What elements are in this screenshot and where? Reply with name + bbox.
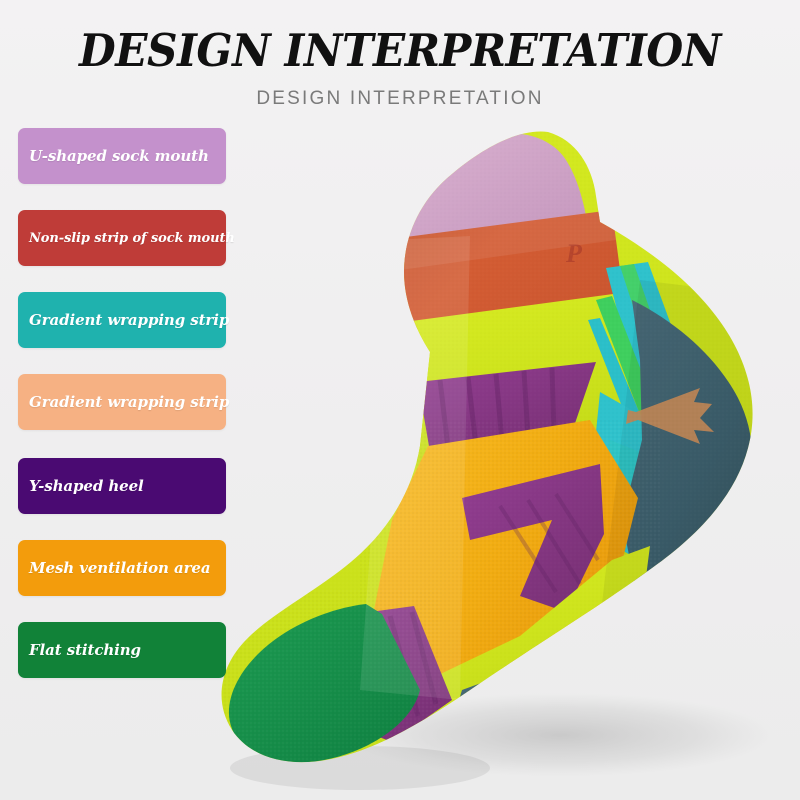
sock-mesh-ventilation-gold	[372, 420, 638, 690]
sock-midband-ribs	[440, 368, 554, 448]
legend-item-label: Flat stitching	[18, 641, 141, 659]
design-interpretation-page: DESIGN INTERPRETATION DESIGN INTERPRETAT…	[0, 0, 800, 800]
sock-upper-lime	[404, 292, 652, 470]
legend-item-flat-stitching[interactable]: Flat stitching	[18, 622, 226, 678]
sock-chevron-ribs	[500, 494, 598, 592]
sock-nonslip-band-shade	[398, 210, 616, 270]
page-subtitle: DESIGN INTERPRETATION	[0, 88, 800, 110]
legend-item-u-shaped-sock-mouth[interactable]: U-shaped sock mouth	[18, 128, 226, 184]
sock-brand-mark: P	[565, 239, 583, 268]
legend-item-gradient-wrapping-strip-1[interactable]: Gradient wrapping strip	[18, 292, 226, 348]
sock-sole-lime-lower	[340, 690, 470, 760]
sock-toe-band-ribs	[366, 612, 436, 726]
sock-midband-purple	[418, 362, 596, 452]
sock-heel-slate	[622, 300, 752, 590]
sock-sole-lime	[402, 546, 650, 730]
legend-item-gradient-wrapping-strip-2[interactable]: Gradient wrapping strip	[18, 374, 226, 430]
sock-toe-texture	[210, 590, 440, 780]
sock-toe-shadow	[230, 746, 490, 790]
legend-item-label: Y-shaped heel	[18, 477, 144, 495]
sock-cuff-mouth-pink	[404, 133, 594, 252]
legend-item-label: Gradient wrapping strip	[18, 393, 229, 411]
sock-gradient-wrapping-stripes	[588, 262, 700, 566]
legend-item-non-slip-strip-of-sock-mouth[interactable]: Non-slip strip of sock mouth	[18, 210, 226, 266]
sock-sole-slate-patch	[446, 668, 534, 752]
legend-item-label: Gradient wrapping strip	[18, 311, 229, 329]
sock-nonslip-band-rust	[398, 210, 624, 330]
sock-toe-band-purple	[330, 606, 452, 742]
sock-mesh-texture	[360, 420, 660, 700]
sock-y-shaped-heel-mark	[626, 388, 714, 444]
sock-ground-shadow	[345, 693, 775, 777]
legend-item-label: Mesh ventilation area	[18, 559, 210, 577]
sock-body-base	[180, 110, 800, 800]
legend-item-label: Non-slip strip of sock mouth	[18, 231, 235, 246]
sock-shading-right	[600, 280, 800, 640]
sock-knit-overlay	[180, 110, 800, 800]
sock-highlight-left	[360, 236, 470, 700]
page-title: DESIGN INTERPRETATION	[24, 24, 776, 77]
legend-item-label: U-shaped sock mouth	[18, 147, 209, 165]
sock-midfoot-chevron-purple	[462, 464, 604, 612]
legend-item-y-shaped-heel[interactable]: Y-shaped heel	[18, 458, 226, 514]
sock-toe-cap-green	[229, 604, 420, 763]
legend-item-mesh-ventilation-area[interactable]: Mesh ventilation area	[18, 540, 226, 596]
